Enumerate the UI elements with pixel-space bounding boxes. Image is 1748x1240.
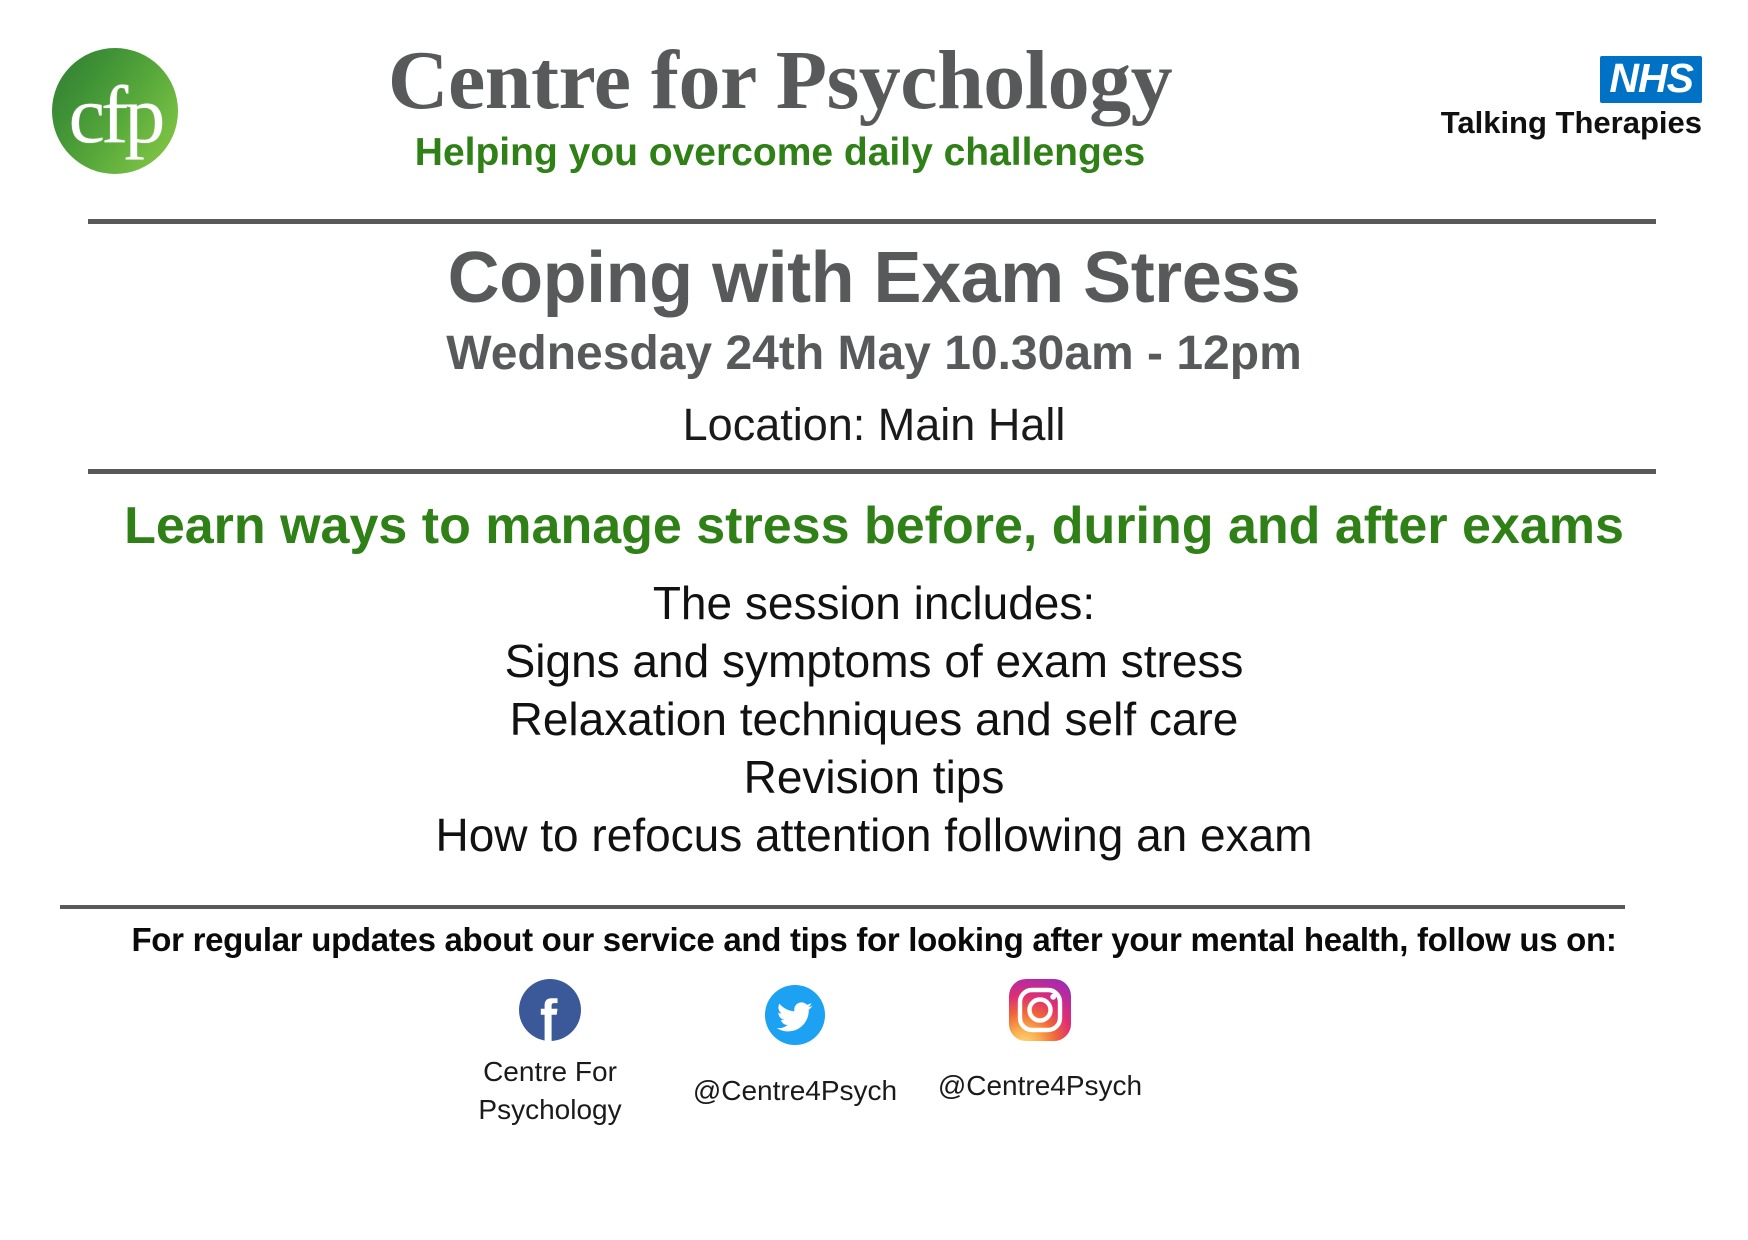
footer-follow-note: For regular updates about our service an… [0, 920, 1748, 960]
session-item: Relaxation techniques and self care [0, 691, 1748, 749]
cfp-logo-icon: cfp [52, 48, 178, 174]
event-datetime: Wednesday 24th May 10.30am - 12pm [0, 326, 1748, 381]
divider-bottom [60, 905, 1625, 909]
body-headline: Learn ways to manage stress before, duri… [0, 495, 1748, 557]
event-block: Coping with Exam Stress Wednesday 24th M… [0, 240, 1748, 451]
brand-tagline: Helping you overcome daily challenges [180, 132, 1380, 175]
event-location: Location: Main Hall [0, 399, 1748, 451]
session-item: Revision tips [0, 749, 1748, 807]
nhs-subtitle: Talking Therapies [1402, 106, 1702, 140]
poster-canvas: cfp Centre for Psychology Helping you ov… [0, 0, 1748, 1240]
brand-block: Centre for Psychology Helping you overco… [180, 38, 1380, 175]
social-label-facebook: Centre For Psychology [430, 1053, 670, 1129]
session-item: Signs and symptoms of exam stress [0, 633, 1748, 691]
nhs-badge: NHS [1600, 56, 1702, 103]
social-item-facebook[interactable]: Centre For Psychology [430, 975, 670, 1129]
poster-header: cfp Centre for Psychology Helping you ov… [0, 0, 1748, 205]
session-intro: The session includes: [0, 575, 1748, 633]
divider-top [88, 219, 1656, 224]
facebook-icon[interactable] [430, 975, 670, 1045]
cfp-logo-text: cfp [69, 74, 162, 156]
social-item-twitter[interactable]: @Centre4Psych [675, 980, 915, 1110]
session-item: How to refocus attention following an ex… [0, 807, 1748, 865]
instagram-icon[interactable] [920, 975, 1160, 1045]
social-label-instagram: @Centre4Psych [920, 1067, 1160, 1105]
social-label-twitter: @Centre4Psych [675, 1072, 915, 1110]
session-list: The session includes: Signs and symptoms… [0, 575, 1748, 865]
social-item-instagram[interactable]: @Centre4Psych [920, 975, 1160, 1105]
nhs-talking-therapies-logo: NHS Talking Therapies [1402, 56, 1702, 140]
event-title: Coping with Exam Stress [0, 240, 1748, 318]
divider-middle [88, 469, 1656, 474]
brand-title: Centre for Psychology [180, 38, 1380, 124]
social-links: Centre For Psychology @Centre4Psych [430, 975, 1310, 1215]
twitter-icon[interactable] [675, 980, 915, 1050]
nhs-badge-text: NHS [1609, 55, 1693, 101]
